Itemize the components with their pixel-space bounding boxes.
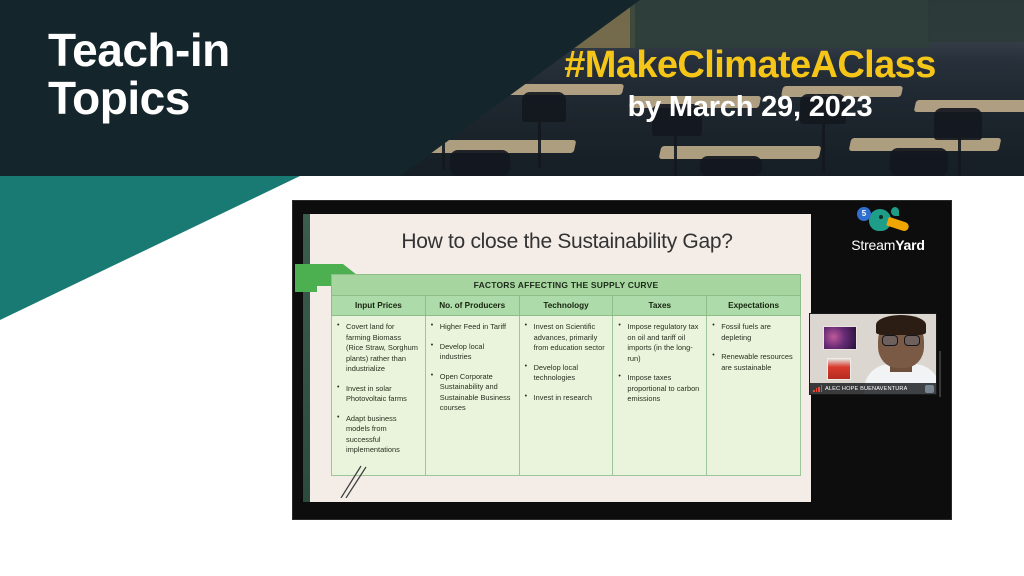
list-item: Invest in solar Photovoltaic farms xyxy=(337,384,420,405)
chalkboard xyxy=(630,0,930,48)
slide-canvas: Teach-in Topics #MakeClimateAClass by Ma… xyxy=(0,0,1024,576)
slide-left-edge xyxy=(303,214,310,502)
list-item: Open Corporate Sustainability and Sustai… xyxy=(431,372,514,414)
video-player[interactable]: How to close the Sustainability Gap? FAC… xyxy=(292,200,952,520)
list-item: Renewable resources are sustainable xyxy=(712,352,795,373)
video-content: How to close the Sustainability Gap? FAC… xyxy=(293,201,951,519)
list-item: Adapt business models from successful im… xyxy=(337,414,420,456)
duck-icon: 5 xyxy=(839,207,937,237)
wall-poster-galaxy xyxy=(823,326,857,350)
participant-name: ALEC HOPE BUENAVENTURA xyxy=(825,386,907,392)
wall-panel xyxy=(928,0,1024,42)
column-header-taxes: Taxes xyxy=(613,296,707,316)
column-header-expectations: Expectations xyxy=(707,296,801,316)
list-item: Invest on Scientific advances, primarily… xyxy=(525,322,608,354)
page-title: Teach-in Topics xyxy=(48,26,348,123)
table-cell-input-prices: Covert land for farming Biomass (Rice St… xyxy=(332,316,426,476)
shared-slide: How to close the Sustainability Gap? FAC… xyxy=(303,214,811,502)
campaign-hashtag-block: #MakeClimateAClass by March 29, 2023 xyxy=(480,46,1020,124)
supply-curve-table: FACTORS AFFECTING THE SUPPLY CURVE Input… xyxy=(331,274,801,476)
column-header-input-prices: Input Prices xyxy=(332,296,426,316)
list-item: Invest in research xyxy=(525,393,608,404)
wall-poster-portrait xyxy=(827,358,851,380)
table-body-row: Covert land for farming Biomass (Rice St… xyxy=(332,316,801,476)
table-banner: FACTORS AFFECTING THE SUPPLY CURVE xyxy=(332,275,801,296)
table-banner-row: FACTORS AFFECTING THE SUPPLY CURVE xyxy=(332,275,801,296)
streamyard-name-light: Stream xyxy=(851,237,895,253)
teal-accent-shape xyxy=(0,176,300,320)
page-title-line-2: Topics xyxy=(48,74,348,122)
table-cell-no-of-producers: Higher Feed in Tariff Develop local indu… xyxy=(425,316,519,476)
slide-title: How to close the Sustainability Gap? xyxy=(337,230,797,254)
list-item: Impose regulatory tax on oil and tariff … xyxy=(618,322,701,364)
column-header-technology: Technology xyxy=(519,296,613,316)
table-cell-expectations: Fossil fuels are depleting Renewable res… xyxy=(707,316,801,476)
list-item: Develop local technologies xyxy=(525,363,608,384)
list-item: Higher Feed in Tariff xyxy=(431,322,514,333)
video-divider xyxy=(939,351,941,397)
streamyard-badge: 5 xyxy=(857,207,871,221)
participant-webcam-tile[interactable]: ALEC HOPE BUENAVENTURA xyxy=(809,313,937,395)
campaign-hashtag: #MakeClimateAClass xyxy=(480,46,1020,85)
streamyard-logo: 5 StreamYard xyxy=(839,207,937,265)
column-header-no-of-producers: No. of Producers xyxy=(425,296,519,316)
list-item: Covert land for farming Biomass (Rice St… xyxy=(337,322,420,375)
participant-name-bar: ALEC HOPE BUENAVENTURA xyxy=(810,383,936,394)
signal-bars-icon xyxy=(813,385,822,392)
streamyard-name-bold: Yard xyxy=(895,237,925,253)
table-cell-technology: Invest on Scientific advances, primarily… xyxy=(519,316,613,476)
campaign-deadline: by March 29, 2023 xyxy=(480,91,1020,124)
list-item: Fossil fuels are depleting xyxy=(712,322,795,343)
streamyard-wordmark: StreamYard xyxy=(839,237,937,253)
eyeglasses-icon xyxy=(882,335,920,346)
list-item: Impose taxes proportional to carbon emis… xyxy=(618,373,701,405)
mic-indicator-icon xyxy=(925,385,934,393)
page-title-line-1: Teach-in xyxy=(48,26,348,74)
table-header-row: Input Prices No. of Producers Technology… xyxy=(332,296,801,316)
list-item: Develop local industries xyxy=(431,342,514,363)
table-cell-taxes: Impose regulatory tax on oil and tariff … xyxy=(613,316,707,476)
